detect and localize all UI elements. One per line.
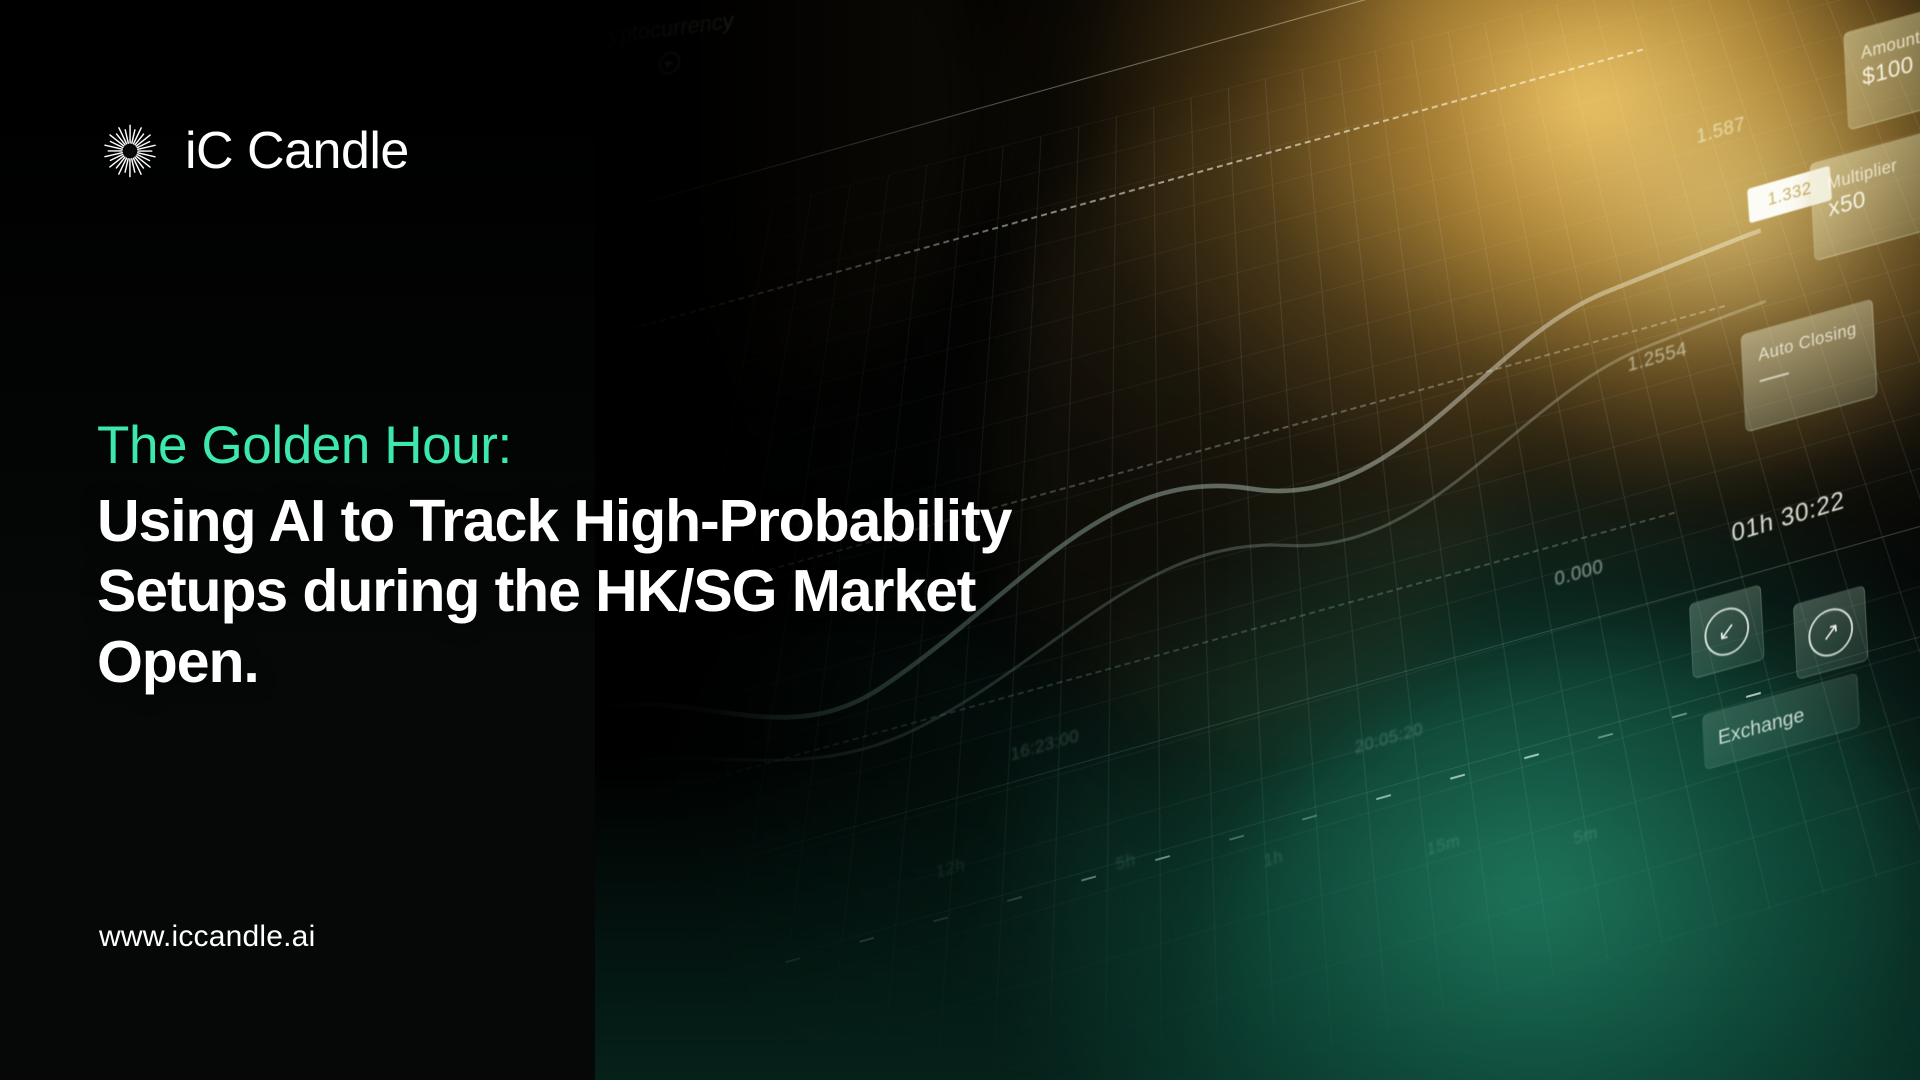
page-title: Using AI to Track High-Probability Setup…: [97, 486, 1011, 698]
brand-logo[interactable]: iC Candle: [97, 118, 409, 184]
promo-banner: 153.49 +1.29 cryptocurrency 114.74 +1.26…: [0, 0, 1920, 1080]
brand-name: iC Candle: [185, 125, 409, 177]
headline-line-3: Open.: [97, 629, 259, 695]
website-url[interactable]: www.iccandle.ai: [99, 920, 315, 954]
headline-eyebrow: The Golden Hour:: [97, 415, 1011, 478]
headline-block: The Golden Hour: Using AI to Track High-…: [97, 415, 1011, 698]
headline-line-2: Setups during the HK/SG Market: [97, 558, 975, 624]
headline-line-1: Using AI to Track High-Probability: [97, 488, 1011, 554]
sunburst-icon: [97, 118, 163, 184]
banner-content: iC Candle The Golden Hour: Using AI to T…: [0, 0, 1920, 1080]
